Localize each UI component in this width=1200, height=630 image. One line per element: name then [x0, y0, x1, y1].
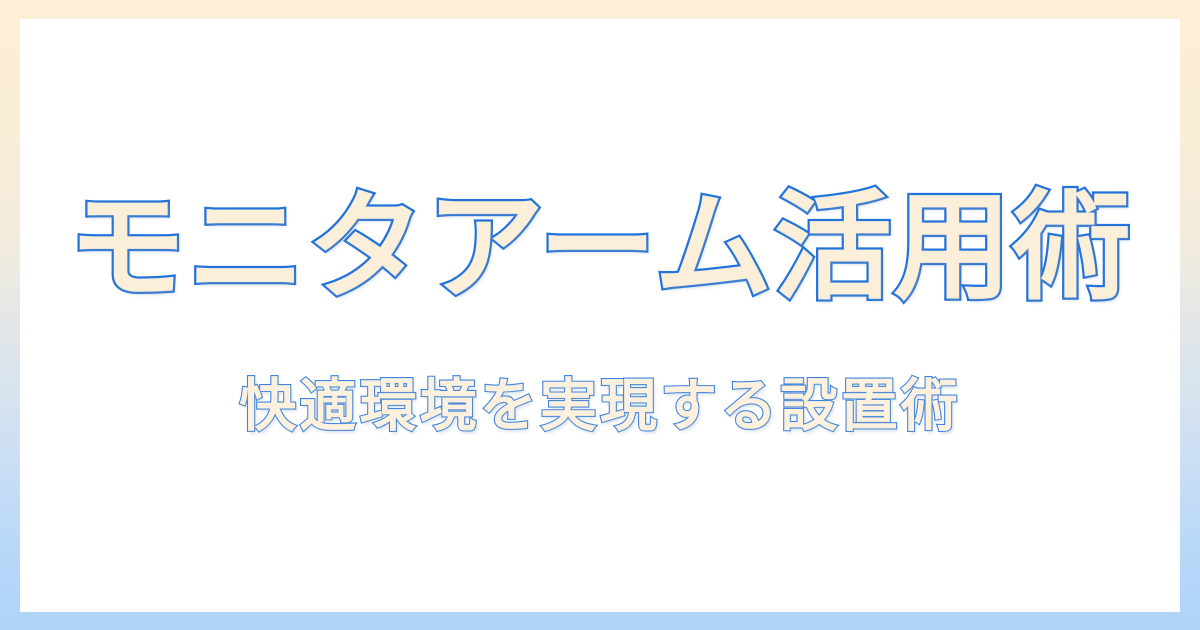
poster-subtitle: 快適環境を実現する設置術	[239, 375, 961, 439]
poster-text-stack: モニタアーム活用術 快適環境を実現する設置術	[20, 19, 1180, 612]
poster-frame: モニタアーム活用術 快適環境を実現する設置術	[0, 0, 1200, 630]
poster-card: モニタアーム活用術 快適環境を実現する設置術	[20, 19, 1180, 612]
poster-title: モニタアーム活用術	[68, 186, 1132, 309]
subtitle-container: 快適環境を実現する設置術	[20, 375, 1180, 439]
title-container: モニタアーム活用術	[20, 186, 1180, 309]
